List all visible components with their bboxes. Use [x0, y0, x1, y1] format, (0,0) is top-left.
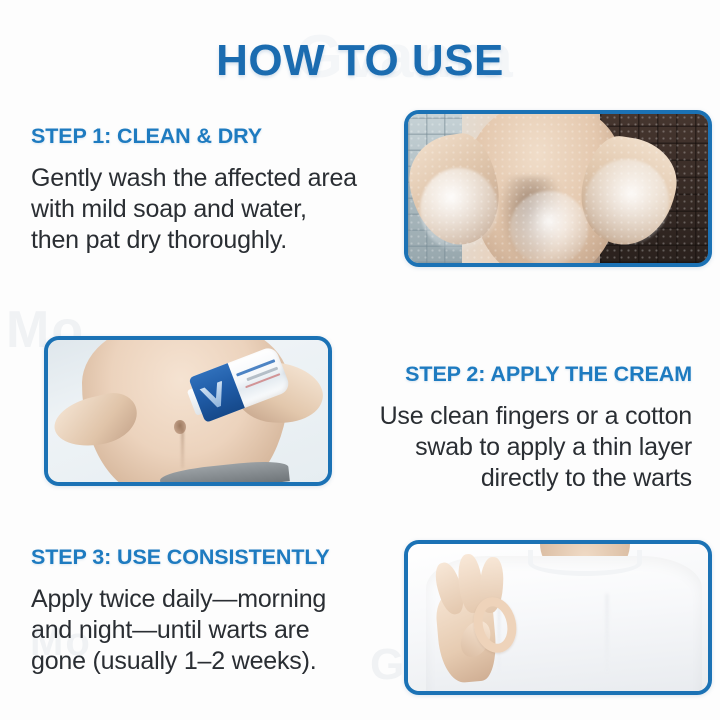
step-3-body: Apply twice daily—morning and night—unti…	[31, 584, 371, 677]
step-2-heading: STEP 2: APPLY THE CREAM	[352, 362, 692, 387]
image-soapy-hands-washing-torso	[408, 114, 708, 263]
image-ok-hand-gesture	[408, 544, 708, 691]
step-3-heading: STEP 3: USE CONSISTENTLY	[31, 545, 371, 570]
step-2-text-block: STEP 2: APPLY THE CREAM Use clean finger…	[352, 362, 692, 494]
step-3-text-block: STEP 3: USE CONSISTENTLY Apply twice dai…	[31, 545, 371, 677]
image-hand-holding-cream-tube	[48, 340, 328, 482]
step-1-heading: STEP 1: CLEAN & DRY	[31, 124, 361, 149]
step-1-text-block: STEP 1: CLEAN & DRY Gently wash the affe…	[31, 124, 361, 256]
step-1-image-card	[404, 110, 712, 267]
step-2-body: Use clean fingers or a cotton swab to ap…	[352, 401, 692, 494]
step-3-image-card	[404, 540, 712, 695]
step-1-body: Gently wash the affected area with mild …	[31, 163, 361, 256]
page-title: HOW TO USE	[0, 36, 720, 86]
step-2-image-card	[44, 336, 332, 486]
how-to-use-infographic: Gvanra Mo Gvanra Mo HOW TO USE STEP 1: C…	[0, 0, 720, 720]
